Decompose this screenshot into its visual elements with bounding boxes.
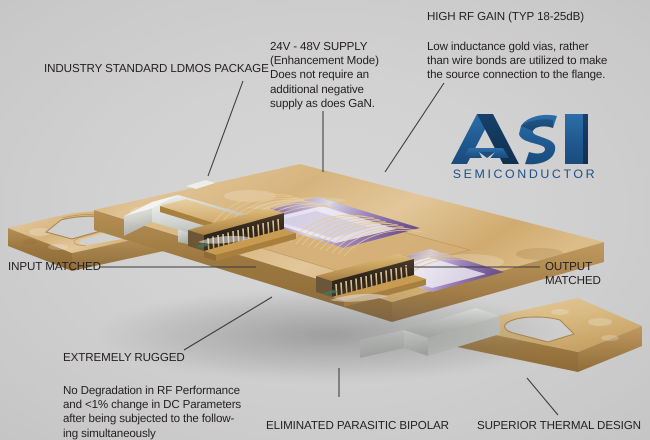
annotation-no-degradation: No Degradation in RF Performance and <1%… (63, 384, 241, 440)
asi-logo: SEMICONDUCTOR (449, 112, 601, 188)
annotation-extremely-rugged: EXTREMELY RUGGED (63, 351, 185, 365)
device-drop-shadow (40, 270, 620, 400)
asi-wordmark: SEMICONDUCTOR (451, 167, 599, 181)
annotation-industry-standard-ldmos-package: INDUSTRY STANDARD LDMOS PACKAGE (44, 62, 269, 76)
annotation-eliminated-parasitic-bipolar: ELIMINATED PARASITIC BIPOLAR (266, 419, 449, 433)
product-diagram: INDUSTRY STANDARD LDMOS PACKAGE 24V - 48… (0, 0, 650, 440)
annotation-low-inductance-gold-vias: Low inductance gold vias, rather than wi… (427, 40, 607, 83)
annotation-high-rf-gain: HIGH RF GAIN (TYP 18-25dB) (427, 10, 584, 24)
annotation-superior-thermal-design: SUPERIOR THERMAL DESIGN (477, 419, 641, 433)
annotation-supply-voltage: 24V - 48V SUPPLY (Enhancement Mode) Does… (270, 40, 379, 111)
annotation-input-matched: INPUT MATCHED (8, 260, 101, 274)
annotation-output-matched: OUTPUT MATCHED (545, 260, 650, 288)
asi-logo-mark (449, 112, 601, 170)
